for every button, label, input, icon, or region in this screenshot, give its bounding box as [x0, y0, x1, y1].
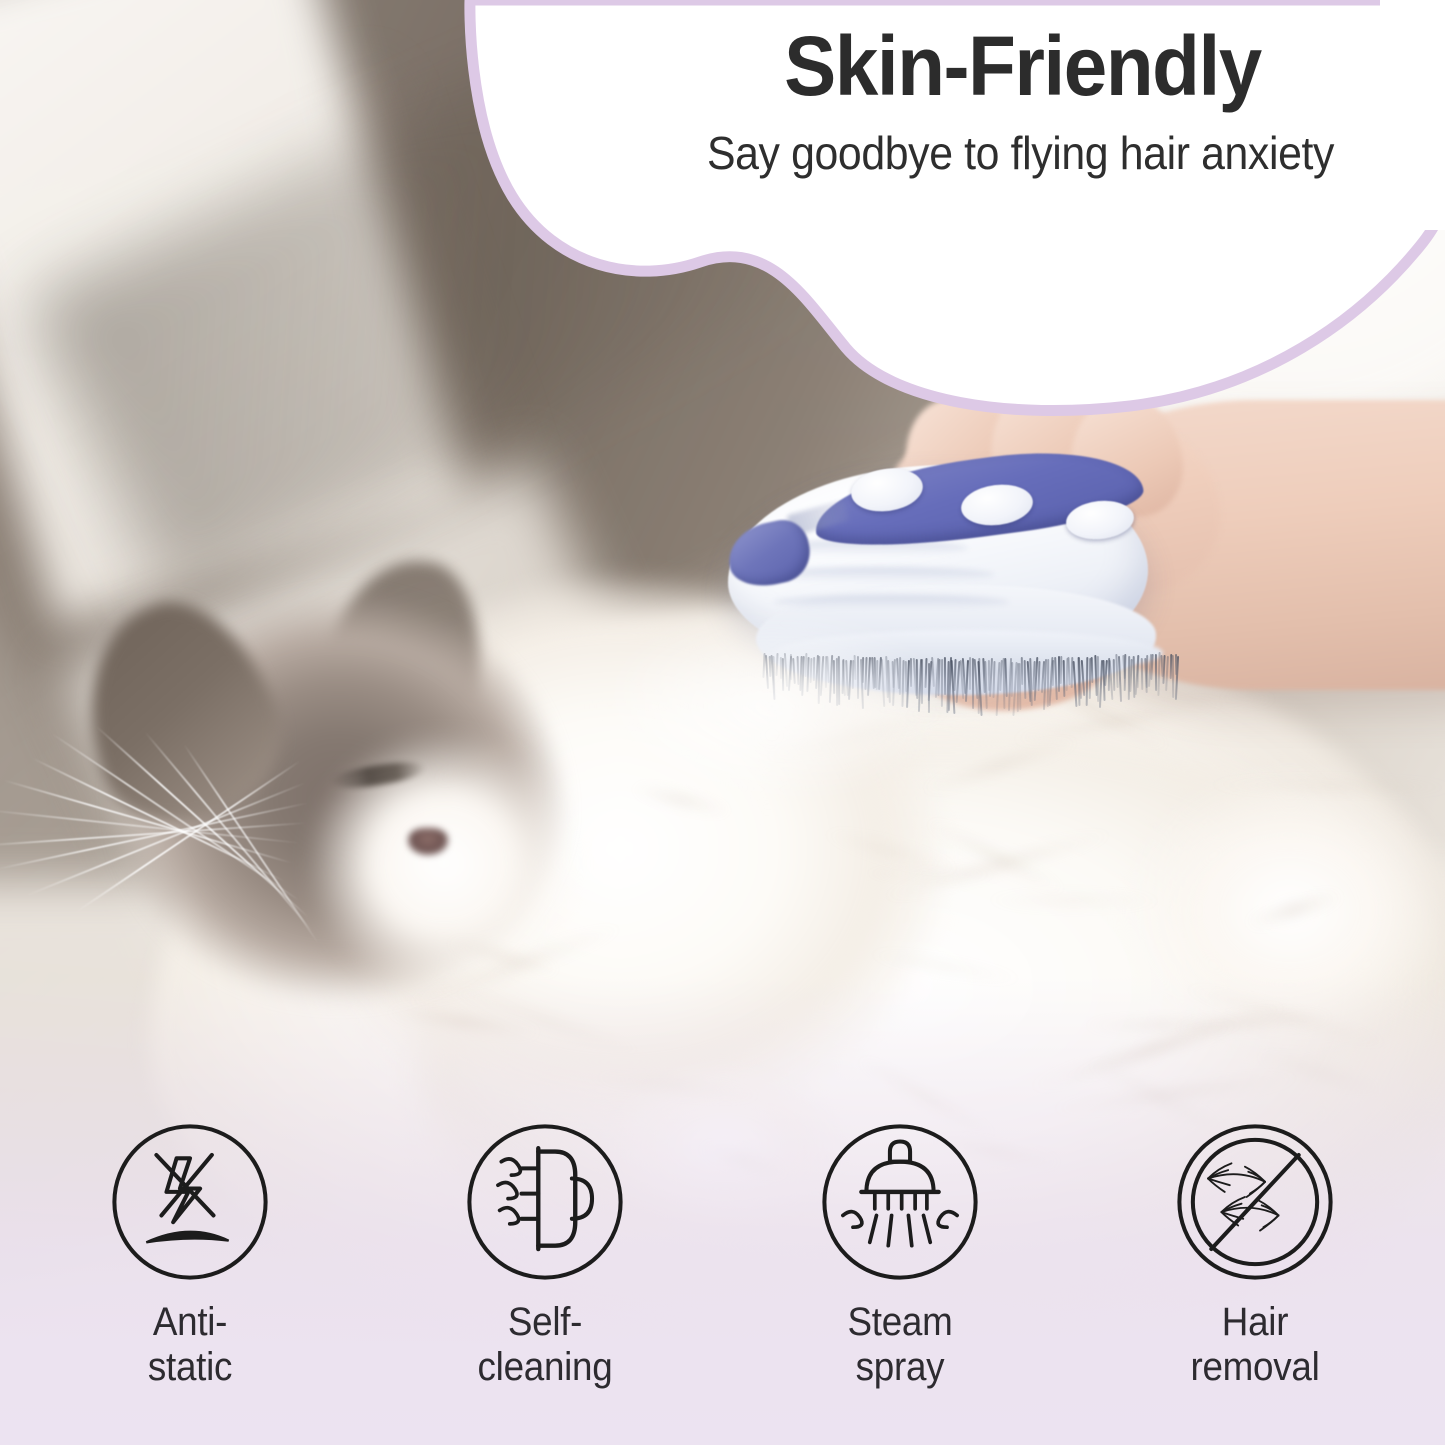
self-cleaning-retract-bristle-icon [461, 1118, 629, 1286]
feature-caption: Anti- static [24, 1300, 355, 1390]
page-subtitle: Say goodbye to flying hair anxiety [628, 128, 1414, 179]
feature-self-cleaning[interactable]: Self- cleaning [365, 1110, 725, 1390]
feature-caption: Self- cleaning [379, 1300, 710, 1390]
no-loose-hair-icon [1171, 1118, 1339, 1286]
feature-caption: Steam spray [734, 1300, 1065, 1390]
product-feature-image: Skin-Friendly Say goodbye to flying hair… [0, 0, 1445, 1445]
feature-caption-line2: removal [1089, 1345, 1420, 1390]
feature-list: Anti- static Self- cleaning [0, 1110, 1445, 1445]
feature-caption-line1: Steam [734, 1300, 1065, 1345]
feature-caption-line2: cleaning [379, 1345, 710, 1390]
page-title: Skin-Friendly [630, 24, 1416, 110]
steam-spray-showerhead-icon [816, 1118, 984, 1286]
feature-anti-static[interactable]: Anti- static [10, 1110, 370, 1390]
feature-caption-line1: Hair [1089, 1300, 1420, 1345]
feature-caption-line2: static [24, 1345, 355, 1390]
feature-steam-spray[interactable]: Steam spray [720, 1110, 1080, 1390]
steam-vapor [600, 580, 1030, 810]
feature-caption-line2: spray [734, 1345, 1065, 1390]
feature-caption-line1: Anti- [24, 1300, 355, 1345]
feature-hair-removal[interactable]: Hair removal [1075, 1110, 1435, 1390]
no-static-lightning-icon [106, 1118, 274, 1286]
feature-caption-line1: Self- [379, 1300, 710, 1345]
feature-caption: Hair removal [1089, 1300, 1420, 1390]
